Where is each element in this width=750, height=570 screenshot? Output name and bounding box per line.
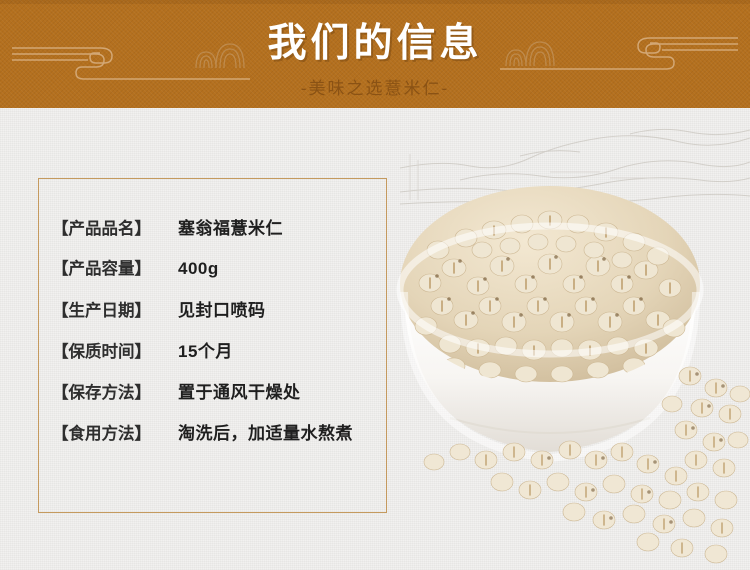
row-value: 置于通风干燥处 bbox=[170, 378, 301, 403]
table-row: 【保质时间】 15个月 bbox=[52, 337, 382, 378]
row-value: 400g bbox=[170, 259, 219, 279]
row-value: 淘洗后，加适量水熬煮 bbox=[170, 419, 353, 444]
row-label: 【产品容量】 bbox=[52, 255, 170, 279]
row-value: 15个月 bbox=[170, 337, 233, 362]
row-label: 【产品品名】 bbox=[52, 215, 170, 239]
table-row: 【生产日期】 见封口喷码 bbox=[52, 296, 382, 337]
table-row: 【产品容量】 400g bbox=[52, 255, 382, 296]
row-label: 【生产日期】 bbox=[52, 297, 170, 321]
row-label: 【保存方法】 bbox=[52, 379, 170, 403]
row-label: 【食用方法】 bbox=[52, 420, 170, 444]
product-info-page: 我们的信息 -美味之选薏米仁- bbox=[0, 0, 750, 570]
table-row: 【产品品名】 塞翁福薏米仁 bbox=[52, 214, 382, 255]
table-row: 【食用方法】 淘洗后，加适量水熬煮 bbox=[52, 419, 382, 460]
page-title: 我们的信息 bbox=[0, 12, 750, 68]
page-header-banner: 我们的信息 -美味之选薏米仁- bbox=[0, 0, 750, 108]
row-value: 见封口喷码 bbox=[170, 296, 266, 321]
product-info-table: 【产品品名】 塞翁福薏米仁 【产品容量】 400g 【生产日期】 见封口喷码 【… bbox=[52, 214, 382, 460]
row-value: 塞翁福薏米仁 bbox=[170, 214, 283, 239]
row-label: 【保质时间】 bbox=[52, 338, 170, 362]
header-top-strip bbox=[0, 0, 750, 4]
page-subtitle: -美味之选薏米仁- bbox=[0, 74, 750, 99]
table-row: 【保存方法】 置于通风干燥处 bbox=[52, 378, 382, 419]
